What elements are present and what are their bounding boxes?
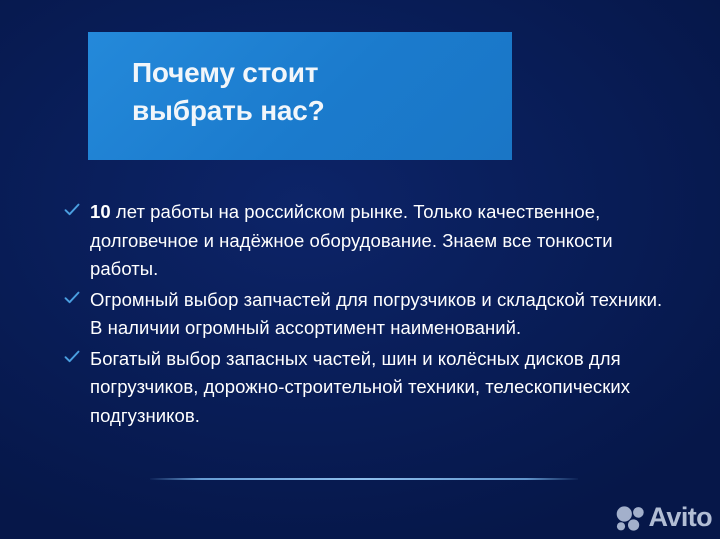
list-item: Огромный выбор запчастей для погрузчиков… (64, 286, 670, 343)
list-item-text: Богатый выбор запасных частей, шин и кол… (90, 345, 670, 431)
avito-watermark: Avito (615, 504, 713, 531)
list-item-lead: 10 (90, 201, 111, 222)
title-line-2: выбрать нас? (132, 92, 488, 130)
check-icon (64, 349, 80, 365)
list-item-body: Огромный выбор запчастей для погрузчиков… (90, 289, 662, 339)
slide-canvas: Почему стоит выбрать нас? 10 лет работы … (0, 0, 720, 539)
title-box: Почему стоит выбрать нас? (88, 32, 512, 160)
divider (150, 478, 578, 480)
list-item-body: лет работы на российском рынке. Только к… (90, 201, 613, 279)
list-item: 10 лет работы на российском рынке. Тольк… (64, 198, 670, 284)
check-icon (64, 202, 80, 218)
title-line-1: Почему стоит (132, 54, 488, 92)
list-item-body: Богатый выбор запасных частей, шин и кол… (90, 348, 630, 426)
list-item-text: 10 лет работы на российском рынке. Тольк… (90, 198, 670, 284)
avito-wordmark: Avito (649, 504, 713, 531)
list-item: Богатый выбор запасных частей, шин и кол… (64, 345, 670, 431)
check-icon (64, 290, 80, 306)
avito-dots-icon (615, 505, 645, 531)
benefits-list: 10 лет работы на российском рынке. Тольк… (64, 198, 670, 432)
list-item-text: Огромный выбор запчастей для погрузчиков… (90, 286, 670, 343)
